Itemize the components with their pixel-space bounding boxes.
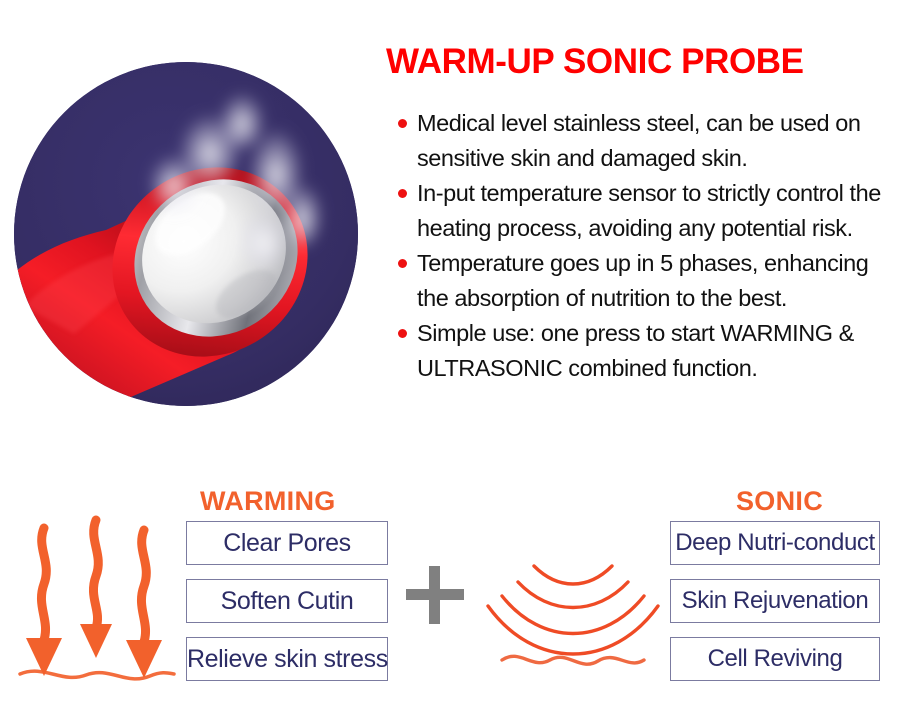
benefit-box[interactable]: Clear Pores [186, 521, 388, 565]
feature-text: Simple use: one press to start WARMING &… [417, 320, 854, 381]
page-title: WARM-UP SONIC PROBE [386, 44, 896, 81]
list-item: In-put temperature sensor to strictly co… [396, 176, 896, 246]
feature-list: Medical level stainless steel, can be us… [396, 106, 896, 386]
bullet-icon [398, 259, 407, 268]
list-item: Simple use: one press to start WARMING &… [396, 316, 896, 386]
warming-column: WARMING Clear Pores Soften Cutin Relieve… [8, 480, 388, 706]
sonic-benefit-list: Deep Nutri-conduct Skin Rejuvenation Cel… [670, 521, 880, 695]
benefit-box[interactable]: Skin Rejuvenation [670, 579, 880, 623]
product-probe-photo [14, 62, 358, 406]
benefit-box[interactable]: Relieve skin stress [186, 637, 388, 681]
benefit-box[interactable]: Soften Cutin [186, 579, 388, 623]
sonic-column: SONIC Deep Nutri-conduct Skin Rejuvenati… [492, 480, 872, 706]
feature-text: Temperature goes up in 5 phases, enhanci… [417, 250, 868, 311]
bullet-icon [398, 189, 407, 198]
bullet-icon [398, 119, 407, 128]
bullet-icon [398, 329, 407, 338]
list-item: Medical level stainless steel, can be us… [396, 106, 896, 176]
benefit-box[interactable]: Cell Reviving [670, 637, 880, 681]
warming-benefit-list: Clear Pores Soften Cutin Relieve skin st… [186, 521, 388, 695]
benefit-box[interactable]: Deep Nutri-conduct [670, 521, 880, 565]
list-item: Temperature goes up in 5 phases, enhanci… [396, 246, 896, 316]
benefits-section: WARMING Clear Pores Soften Cutin Relieve… [0, 480, 900, 706]
sonic-heading: SONIC [736, 486, 823, 517]
warming-heading: WARMING [200, 486, 336, 517]
product-photo [14, 62, 358, 406]
feature-text: In-put temperature sensor to strictly co… [417, 180, 881, 241]
feature-text: Medical level stainless steel, can be us… [417, 110, 861, 171]
